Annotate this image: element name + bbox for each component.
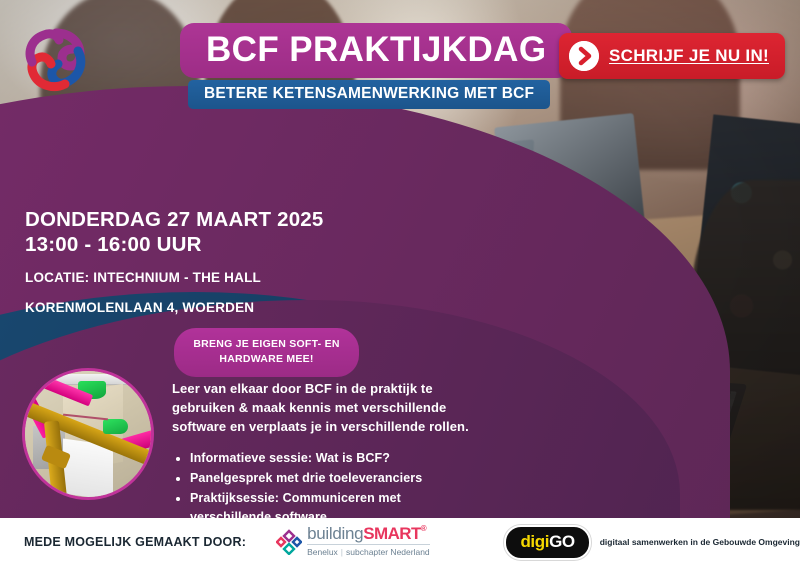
register-button-label: SCHRIJF JE NU IN!	[609, 46, 769, 66]
digigo-wordmark: digiGO	[520, 532, 574, 551]
buildingsmart-chapter-right: subchapter Nederland	[346, 547, 430, 557]
session-list: Informatieve sessie: Wat is BCF? Panelge…	[190, 449, 472, 527]
registered-trademark-icon: ®	[421, 524, 427, 533]
list-item: Panelgesprek met drie toeleveranciers	[190, 469, 472, 488]
bcf-swirl-logo	[22, 26, 90, 92]
digigo-logo[interactable]: digiGO digitaal samenwerken in de Gebouw…	[504, 525, 800, 560]
digigo-word-go: GO	[549, 532, 575, 551]
event-location-line-2: KORENMOLENLAAN 4, WOERDEN	[25, 299, 355, 317]
buildingsmart-word-building: building	[307, 524, 363, 543]
buildingsmart-chapter: Benelux|subchapter Nederland	[307, 544, 430, 557]
buildingsmart-word-smart: SMART	[363, 524, 420, 543]
thumb-duct-green-2	[103, 419, 128, 434]
buildingsmart-logo[interactable]: buildingSMART® Benelux|subchapter Nederl…	[276, 525, 480, 559]
buildingsmart-wordmark: buildingSMART® Benelux|subchapter Nederl…	[307, 525, 480, 559]
poster: BCF PRAKTIJKDAG BETERE KETENSAMENWERKING…	[0, 0, 800, 566]
buildingsmart-name: buildingSMART®	[307, 524, 426, 543]
event-info: DONDERDAG 27 MAART 2025 13:00 - 16:00 UU…	[25, 207, 355, 317]
event-date-line-1: DONDERDAG 27 MAART 2025	[25, 207, 355, 232]
register-button[interactable]: SCHRIJF JE NU IN!	[559, 33, 785, 79]
bcf-model-screenshot	[22, 368, 154, 500]
title-banner: BCF PRAKTIJKDAG	[180, 23, 572, 78]
subtitle-bar: BETERE KETENSAMENWERKING MET BCF	[188, 80, 550, 109]
chevron-right-circle-icon	[569, 41, 599, 71]
badge-line-2: HARDWARE MEE!	[188, 352, 345, 367]
bring-your-own-device-badge: BRENG JE EIGEN SOFT- EN HARDWARE MEE!	[174, 328, 359, 377]
sponsor-footer: MEDE MOGELIJK GEMAAKT DOOR: buildingSMAR…	[0, 518, 800, 566]
buildingsmart-chapter-separator: |	[338, 547, 346, 557]
digigo-tagline: digitaal samenwerken in de Gebouwde Omge…	[600, 537, 800, 547]
list-item: Informatieve sessie: Wat is BCF?	[190, 449, 472, 468]
digigo-pill: digiGO	[504, 525, 590, 560]
page-subtitle: BETERE KETENSAMENWERKING MET BCF	[204, 85, 534, 103]
page-title: BCF PRAKTIJKDAG	[206, 32, 546, 67]
buildingsmart-chapter-left: Benelux	[307, 547, 338, 557]
event-date-line-2: 13:00 - 16:00 UUR	[25, 232, 355, 257]
description-paragraph: Leer van elkaar door BCF in de praktijk …	[172, 380, 472, 437]
badge-line-1: BRENG JE EIGEN SOFT- EN	[188, 337, 345, 352]
event-location-line-1: LOCATIE: INTECHNIUM - THE HALL	[25, 269, 355, 287]
buildingsmart-mark-icon	[276, 529, 302, 555]
footer-label: MEDE MOGELIJK GEMAAKT DOOR:	[24, 535, 246, 549]
description-block: Leer van elkaar door BCF in de praktijk …	[172, 380, 472, 528]
digigo-word-digi: digi	[520, 532, 549, 551]
